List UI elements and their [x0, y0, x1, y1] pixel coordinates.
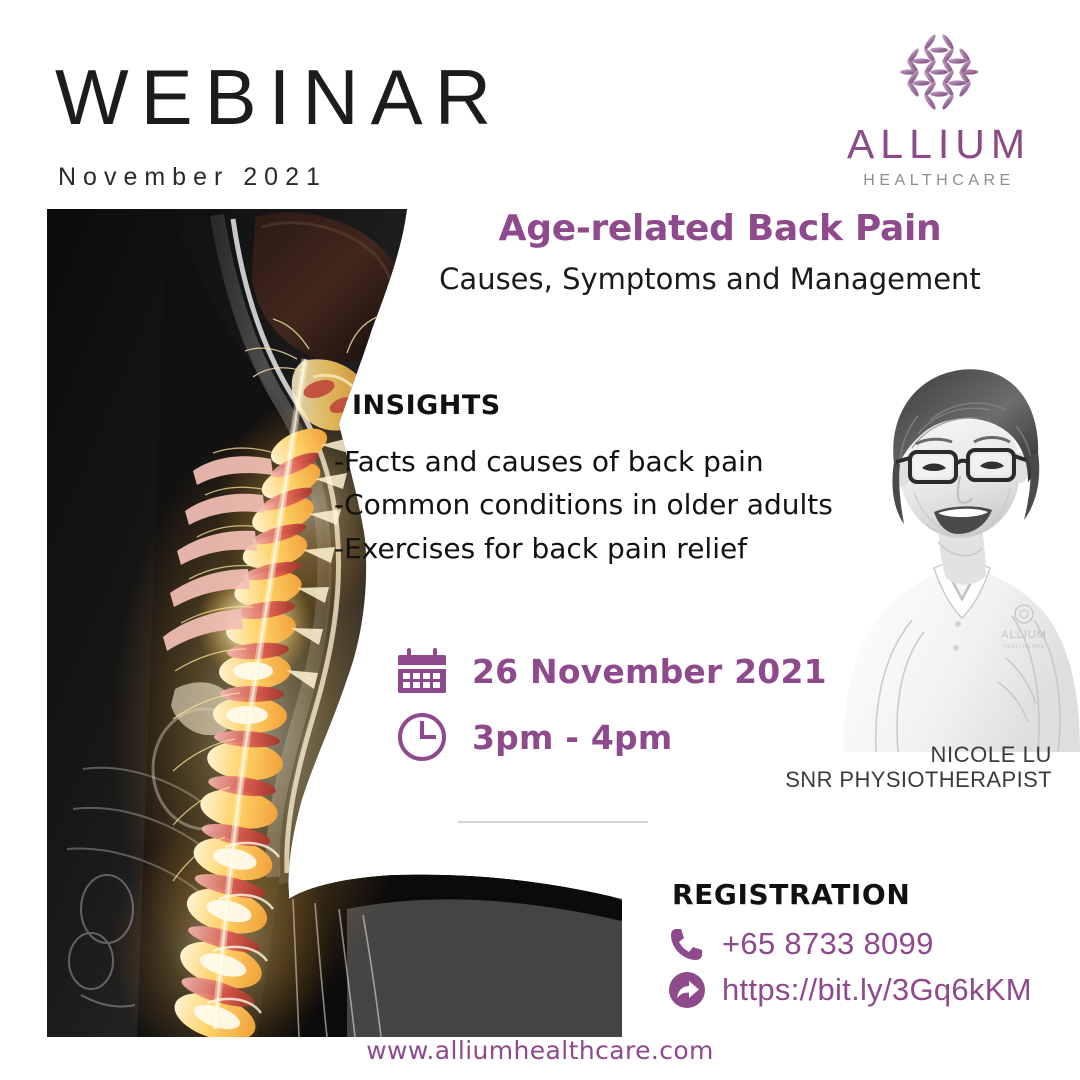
webinar-topic-title: Age-related Back Pain — [400, 208, 1040, 249]
clock-icon — [396, 711, 448, 763]
footer-website-url[interactable]: www.alliumhealthcare.com — [0, 1036, 1080, 1065]
phone-icon — [668, 925, 706, 963]
schedule-row-time: 3pm - 4pm — [396, 711, 827, 763]
webinar-topic-subtitle: Causes, Symptoms and Management — [380, 262, 1040, 296]
logo-wordmark: ALLIUM — [834, 124, 1044, 165]
list-item: -Exercises for back pain relief — [334, 527, 914, 570]
registration-link[interactable]: https://bit.ly/3Gq6kKM — [722, 972, 1032, 1008]
share-link-icon — [668, 971, 706, 1009]
speaker-portrait: ALLIUM HEALTHCARE — [830, 352, 1080, 752]
registration-heading: REGISTRATION — [672, 878, 910, 911]
registration-rows: +65 8733 8099 https://bit.ly/3Gq6kKM — [668, 925, 1032, 1017]
page-title: WEBINAR — [55, 58, 503, 136]
registration-phone: +65 8733 8099 — [722, 926, 934, 962]
brand-logo: ALLIUM HEALTHCARE — [834, 26, 1044, 190]
spine-illustration — [47, 209, 622, 1037]
event-date: 26 November 2021 — [472, 652, 827, 691]
header-month-year: November 2021 — [58, 163, 327, 192]
insights-heading: INSIGHTS — [352, 390, 501, 421]
event-time: 3pm - 4pm — [472, 718, 672, 757]
insights-list: -Facts and causes of back pain -Common c… — [334, 440, 914, 570]
allium-flower-mandala-icon — [889, 26, 989, 118]
list-item: -Common conditions in older adults — [334, 483, 914, 526]
schedule-row-date: 26 November 2021 — [396, 645, 827, 697]
registration-row-phone[interactable]: +65 8733 8099 — [668, 925, 1032, 963]
list-item: -Facts and causes of back pain — [334, 440, 914, 483]
schedule-block: 26 November 2021 3pm - 4pm — [396, 645, 827, 777]
logo-tagline: HEALTHCARE — [834, 172, 1044, 190]
section-divider — [458, 821, 648, 823]
svg-text:ALLIUM: ALLIUM — [1001, 629, 1047, 641]
svg-text:HEALTHCARE: HEALTHCARE — [1003, 644, 1044, 650]
registration-row-link[interactable]: https://bit.ly/3Gq6kKM — [668, 971, 1032, 1009]
calendar-icon — [396, 645, 448, 697]
webinar-poster: WEBINAR November 2021 — [0, 0, 1080, 1080]
